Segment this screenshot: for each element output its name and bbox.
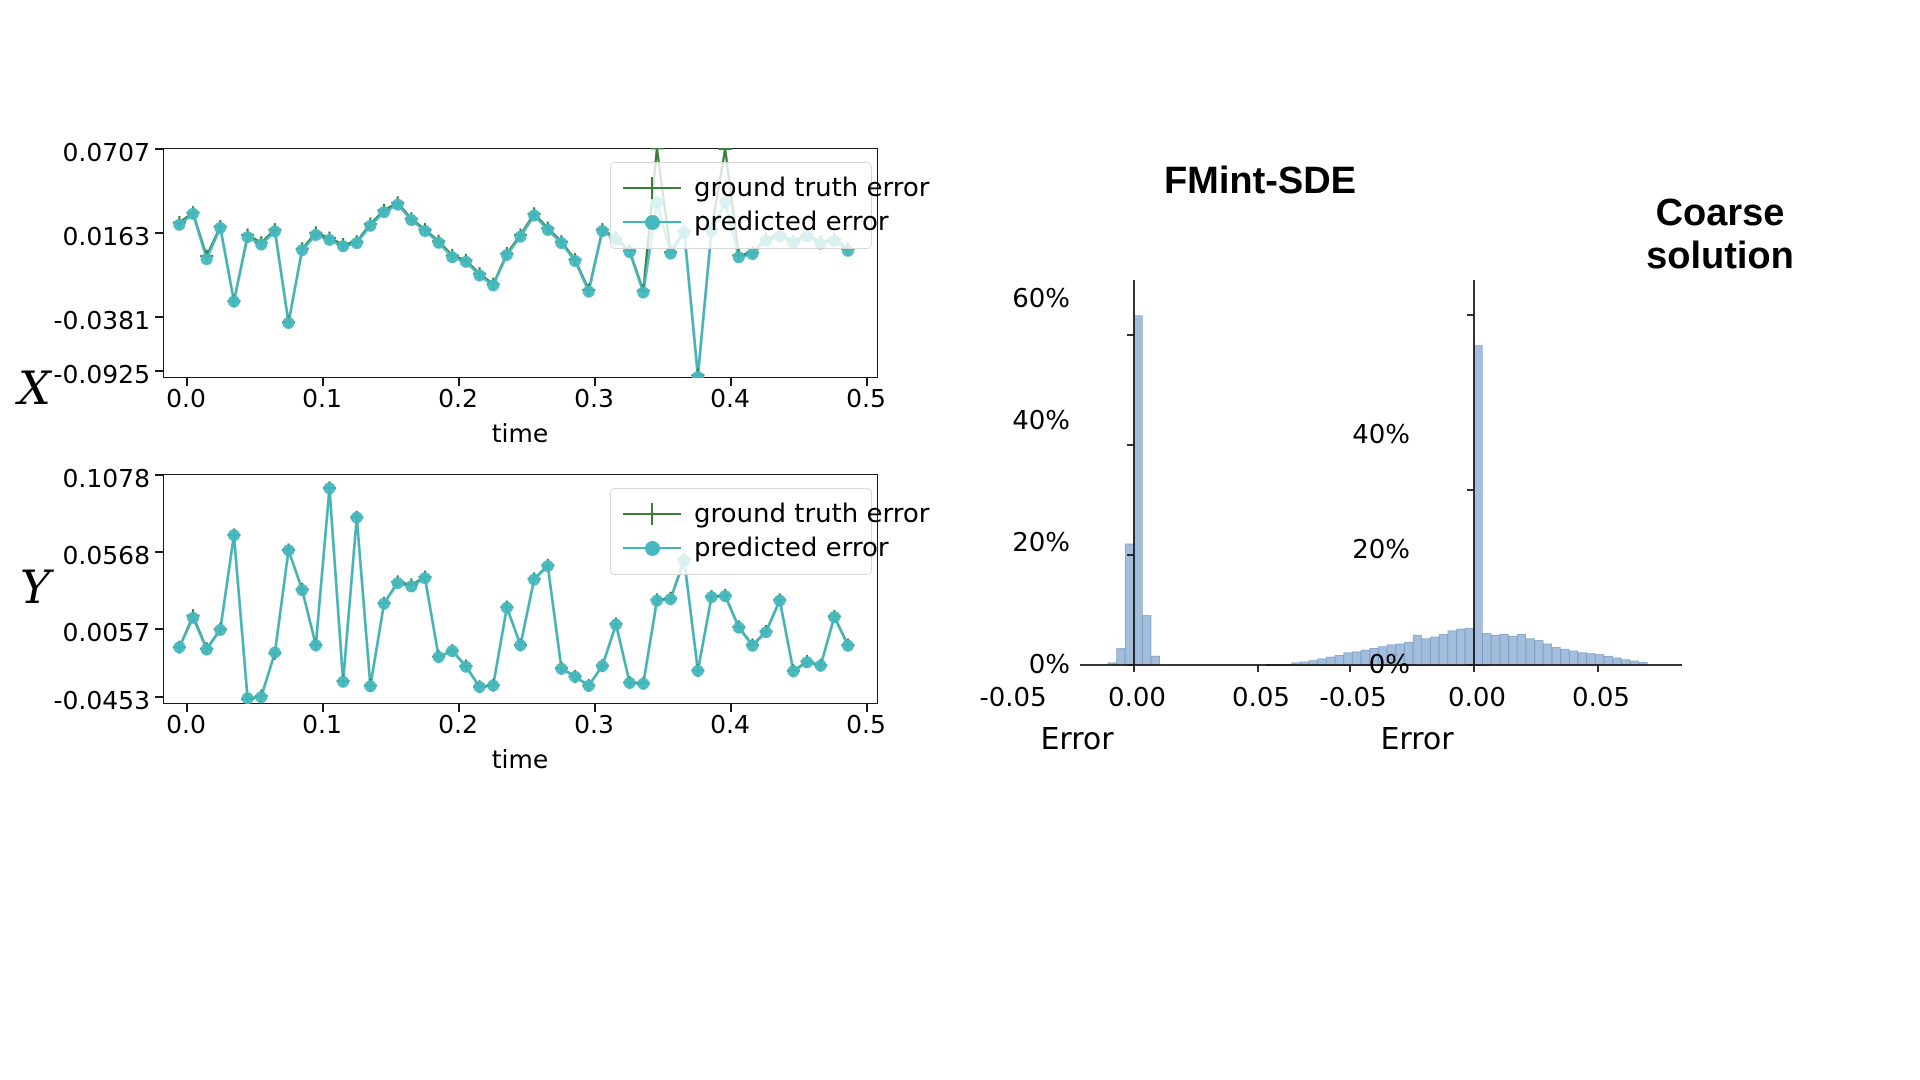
xtick-y-3: 0.3 bbox=[549, 712, 639, 737]
legend-label-ground-truth: ground truth error bbox=[694, 175, 930, 201]
axis-title-hist-coarse-error: Error bbox=[1352, 725, 1482, 755]
axis-title-hist-fmint-error: Error bbox=[1012, 725, 1142, 755]
xtick-x-4: 0.4 bbox=[685, 386, 775, 411]
xtick-y-4: 0.4 bbox=[685, 712, 775, 737]
xtick-hist-coarse-2: 0.05 bbox=[1536, 685, 1666, 711]
figure-canvas: X 0.0707 0.0163 -0.0381 -0.0925 0.0 0.1 … bbox=[0, 0, 1920, 1080]
legend-key-predicted-icon bbox=[623, 538, 681, 558]
panel-x-series: X 0.0707 0.0163 -0.0381 -0.0925 0.0 0.1 … bbox=[0, 140, 900, 440]
xtick-y-1: 0.1 bbox=[277, 712, 367, 737]
legend-row-predicted[interactable]: predicted error bbox=[623, 205, 857, 239]
xtick-y-0: 0.0 bbox=[141, 712, 231, 737]
xtick-y-5: 0.5 bbox=[821, 712, 911, 737]
xtick-x-1: 0.1 bbox=[277, 386, 367, 411]
ytick-hist-coarse-20: 20% bbox=[1240, 537, 1410, 563]
legend-label-predicted: predicted error bbox=[694, 535, 889, 561]
legend-y-series[interactable]: ground truth error predicted error bbox=[610, 488, 872, 575]
axis-title-y-series-time: time bbox=[460, 747, 580, 772]
legend-x-series[interactable]: ground truth error predicted error bbox=[610, 162, 872, 249]
xtick-hist-coarse-1: 0.00 bbox=[1412, 685, 1542, 711]
ytick-hist-fmint-40: 40% bbox=[900, 408, 1070, 434]
legend-row-predicted[interactable]: predicted error bbox=[623, 531, 857, 565]
xtick-x-2: 0.2 bbox=[413, 386, 503, 411]
legend-row-ground-truth[interactable]: ground truth error bbox=[623, 171, 857, 205]
ytick-hist-coarse-0: 0% bbox=[1240, 652, 1410, 678]
ytick-hist-fmint-0: 0% bbox=[900, 652, 1070, 678]
xtick-x-3: 0.3 bbox=[549, 386, 639, 411]
ytick-hist-coarse-40: 40% bbox=[1240, 422, 1410, 448]
legend-key-ground-truth-icon bbox=[623, 504, 681, 524]
legend-key-ground-truth-icon bbox=[623, 178, 681, 198]
title-hist-fmint: FMint-SDE bbox=[1090, 160, 1430, 203]
xtick-hist-coarse-0: -0.05 bbox=[1288, 685, 1418, 711]
legend-key-predicted-icon bbox=[623, 212, 681, 232]
panel-hist-coarse bbox=[1260, 260, 1920, 690]
xtick-hist-fmint-1: 0.00 bbox=[1072, 685, 1202, 711]
legend-label-ground-truth: ground truth error bbox=[694, 501, 930, 527]
ytick-hist-fmint-60: 60% bbox=[900, 286, 1070, 312]
panel-y-series: Y 0.1078 0.0568 0.0057 -0.0453 0.0 0.1 0… bbox=[0, 466, 900, 766]
xtick-y-2: 0.2 bbox=[413, 712, 503, 737]
xtick-x-5: 0.5 bbox=[821, 386, 911, 411]
legend-row-ground-truth[interactable]: ground truth error bbox=[623, 497, 857, 531]
xtick-hist-fmint-0: -0.05 bbox=[948, 685, 1078, 711]
axis-title-x-series-time: time bbox=[460, 421, 580, 446]
xtick-x-0: 0.0 bbox=[141, 386, 231, 411]
legend-label-predicted: predicted error bbox=[694, 209, 889, 235]
ytick-hist-fmint-20: 20% bbox=[900, 530, 1070, 556]
histogram-plot-coarse bbox=[1260, 260, 1920, 690]
